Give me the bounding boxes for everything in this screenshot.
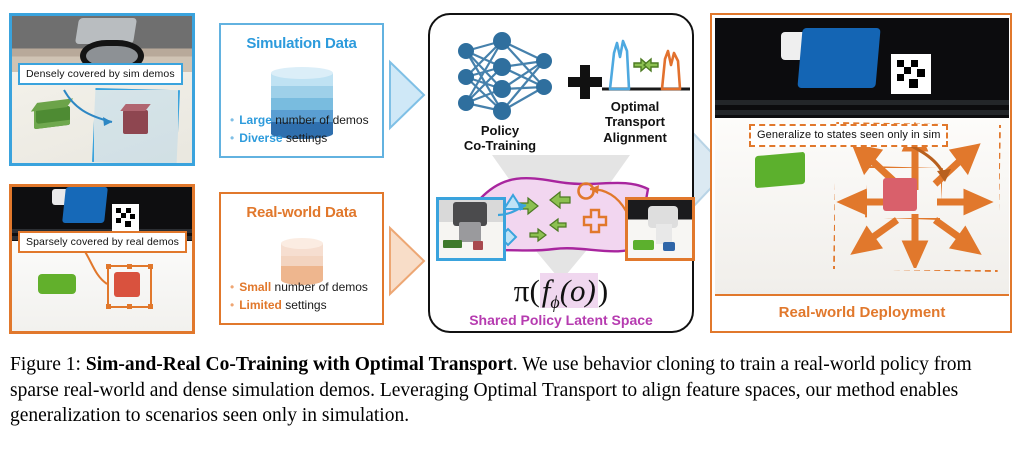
bullet-strong: Large [239,113,272,127]
equation-feature-extractor: fϕ(o) [540,273,598,308]
real-callout-label: Sparsely covered by real demos [18,231,187,253]
apriltag-icon [112,204,139,231]
simulation-data-bullets: Large number of demos Diverse settings [230,111,369,147]
simulation-data-title: Simulation Data [221,25,382,52]
sim-capture-panel: Densely covered by sim demos [9,13,195,166]
real-observation-thumbnail [625,197,695,261]
bullet-strong: Small [239,280,271,294]
deployment-background [715,18,1009,126]
real-selection-box [107,265,152,308]
ot-label-line2: Transport [580,114,690,129]
figure-caption: Figure 1: Sim-and-Real Co-Training with … [10,352,1014,429]
shared-latent-space-label: Shared Policy Latent Space [430,312,692,328]
figure-1: Densely covered by sim demos Sparsely co… [0,0,1024,451]
ot-label-line3: Alignment [580,130,690,145]
real-world-data-cylinder [281,238,323,282]
equation-close: ) [598,273,608,308]
deployment-callout-label: Generalize to states seen only in sim [749,124,948,147]
sim-green-block [34,106,70,129]
arrow-sim-to-method [386,58,432,132]
optimal-transport-label: Optimal Transport Alignment [580,99,690,145]
bullet-rest: settings [283,131,328,145]
real-world-data-card: Real-world Data Small number of demos Li… [219,192,384,325]
rail-2 [715,110,1009,115]
rail-1 [715,100,1009,105]
deployment-title: Real-world Deployment [715,294,1009,328]
sim-callout-label: Densely covered by sim demos [18,63,183,85]
policy-label-line1: Policy [440,123,560,138]
optimal-transport-distributions [600,27,692,95]
deployment-panel: Generalize to states seen only in sim Re… [710,13,1012,333]
real-world-data-bullets: Small number of demos Limited settings [230,278,368,314]
policy-equation: π(fϕ(o)) [430,273,692,313]
neural-network-icon [452,31,560,123]
equation-pi: π( [514,273,540,308]
bullet-strong: Limited [239,298,282,312]
arrow-real-to-method [386,224,432,298]
plus-icon [568,65,602,99]
sim-red-block [123,110,148,134]
sim-tabletop-photo [12,72,192,166]
deployment-robot-arm [797,28,880,88]
real-tabletop-photo [12,241,192,331]
policy-cotraining-label: Policy Co-Training [440,123,560,154]
bullet-rest: number of demos [272,113,369,127]
real-capture-panel: Sparsely covered by real demos [9,184,195,334]
sim-observation-thumbnail [436,197,506,261]
deployment-photo: Generalize to states seen only in sim [715,18,1009,296]
ot-label-line1: Optimal [580,99,690,114]
policy-label-line2: Co-Training [440,138,560,153]
bullet-strong: Diverse [239,131,282,145]
simulation-data-card: Simulation Data Large number of demos Di… [219,23,384,158]
real-robot-arm [62,187,108,223]
real-world-data-title: Real-world Data [221,194,382,221]
real-green-block [38,274,76,294]
method-panel: Policy Co-Training Optimal Transport Ali… [428,13,694,333]
caption-title: Sim-and-Real Co-Training with Optimal Tr… [86,354,513,375]
deployment-green-block [755,152,805,188]
bullet-rest: settings [282,298,327,312]
bullet-rest: number of demos [271,280,368,294]
caption-prefix: Figure 1: [10,354,86,375]
apriltag-icon [891,54,931,94]
